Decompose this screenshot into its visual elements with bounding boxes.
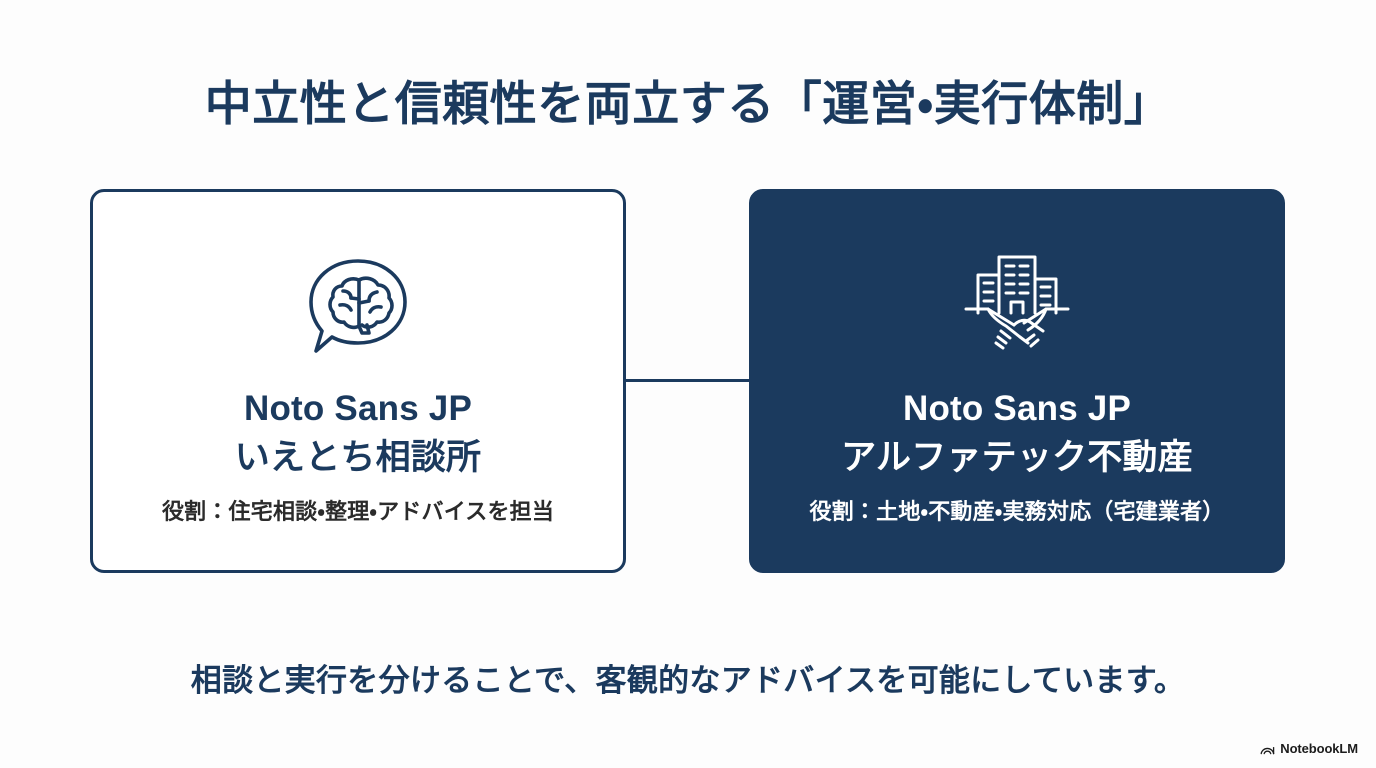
card-title-line-2: アルファテック不動産 [841,433,1193,482]
card-title: Noto Sans JP いえとち相談所 [235,384,481,482]
page-title: 中立性と信頼性を両立する「運営・実行体制」 [0,75,1376,134]
card-title-line-1: Noto Sans JP [841,384,1193,433]
buildings-handshake-icon [958,246,1076,366]
notebooklm-label: NotebookLM [1280,741,1358,756]
card-consultation[interactable]: Noto Sans JP いえとち相談所 役割：住宅相談・整理・アドバイスを担当 [90,189,626,573]
card-realestate[interactable]: Noto Sans JP アルファテック不動産 役割：土地・不動産・実務対応（宅… [749,189,1285,573]
card-connector-line [624,379,752,382]
card-title: Noto Sans JP アルファテック不動産 [841,384,1193,482]
slide-canvas: 中立性と信頼性を両立する「運営・実行体制」 [0,0,1376,768]
speech-bubble-brain-icon [299,246,417,366]
card-subtitle: 役割：土地・不動産・実務対応（宅建業者） [810,494,1225,526]
notebooklm-spiral-icon [1260,742,1275,755]
notebooklm-watermark: NotebookLM [1260,741,1358,756]
footer-note: 相談と実行を分けることで、客観的なアドバイスを可能にしています。 [0,655,1376,700]
card-title-line-2: いえとち相談所 [235,433,481,482]
card-title-line-1: Noto Sans JP [235,384,481,433]
card-subtitle: 役割：住宅相談・整理・アドバイスを担当 [162,494,554,526]
